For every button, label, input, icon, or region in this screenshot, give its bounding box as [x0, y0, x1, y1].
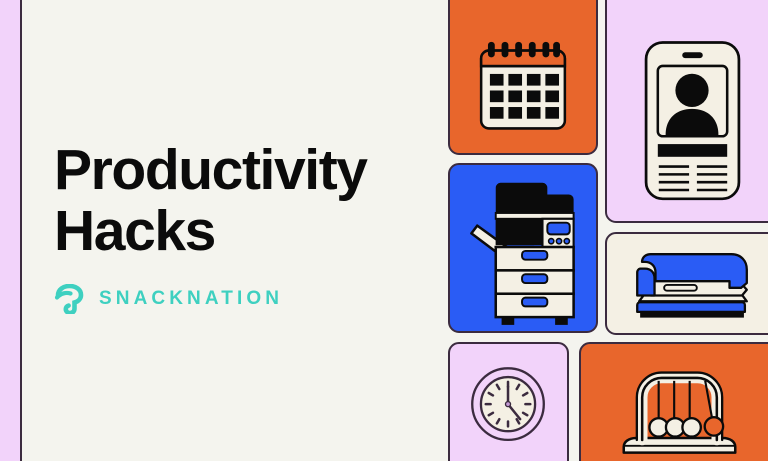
snacknation-swirl-icon: [54, 284, 90, 314]
hero-text-block: Productivity Hacks SNACKNATION: [54, 140, 434, 314]
newtons-cradle-icon: [624, 373, 735, 453]
brand-wordmark: SNACKNATION: [99, 288, 283, 310]
tile-calendar[interactable]: [448, 0, 598, 155]
tile-phone-contact[interactable]: [605, 0, 768, 223]
wall-clock-icon: [472, 368, 544, 440]
brand-lockup: SNACKNATION: [54, 284, 434, 314]
phone-contact-icon: [646, 42, 739, 198]
slide-canvas: Productivity Hacks SNACKNATION: [0, 0, 768, 461]
tile-newtons-cradle[interactable]: [579, 342, 768, 461]
tile-stapler[interactable]: [605, 232, 768, 335]
left-accent-strip: [0, 0, 22, 461]
calendar-icon: [481, 42, 565, 129]
tile-printer[interactable]: [448, 163, 598, 333]
printer-copier-icon: [471, 183, 573, 325]
stapler-icon: [637, 254, 747, 317]
page-title: Productivity Hacks: [54, 140, 434, 262]
tile-clock[interactable]: [448, 342, 569, 461]
